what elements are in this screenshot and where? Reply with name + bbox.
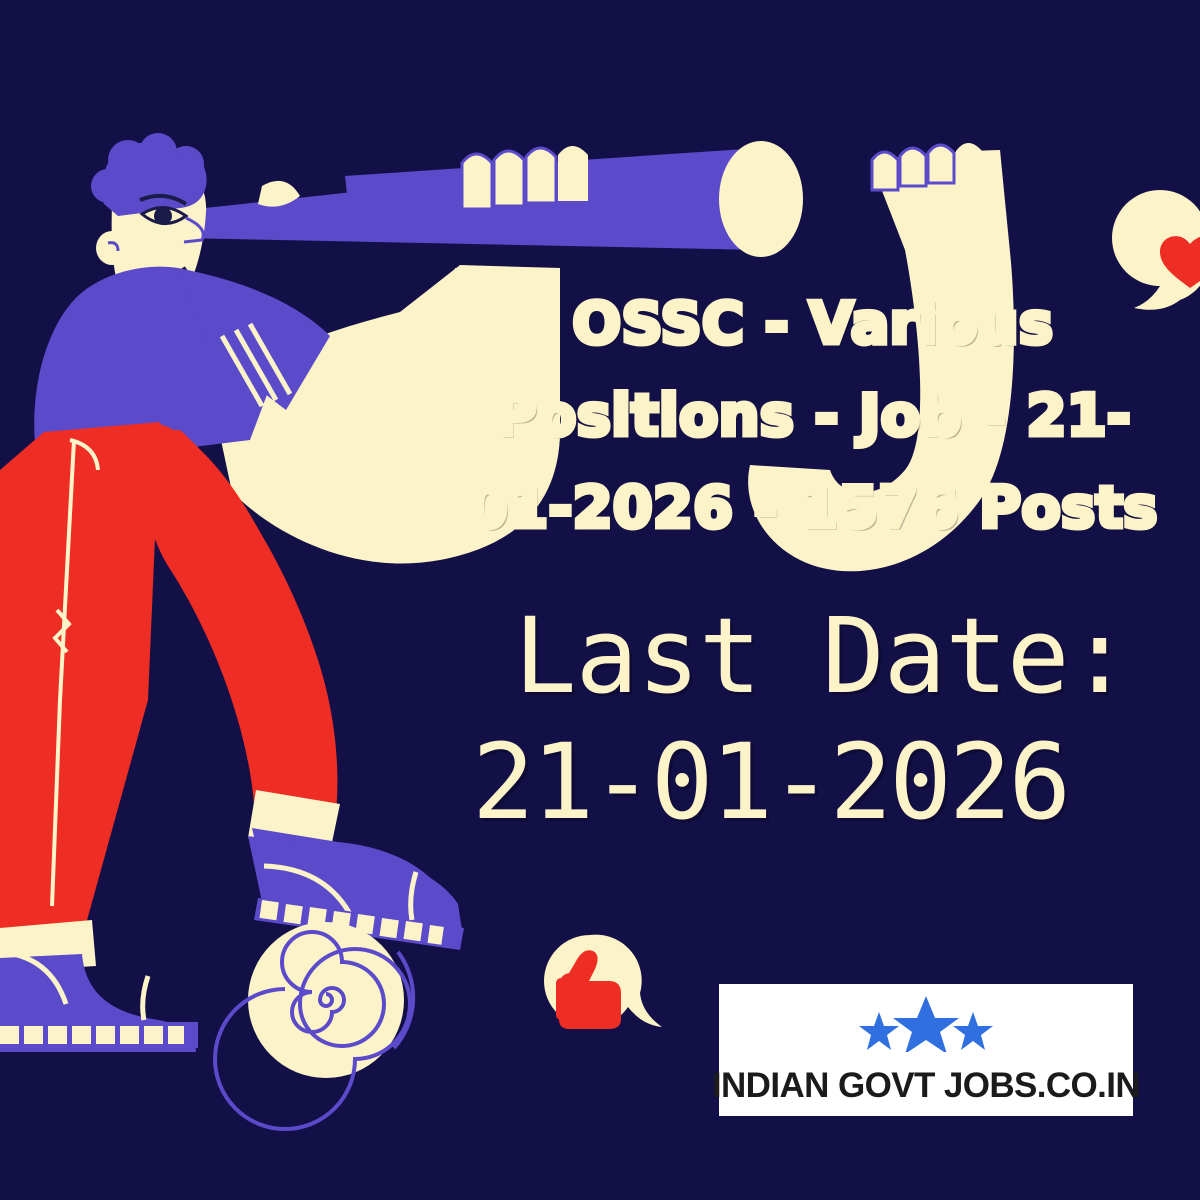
three-stars-icon — [719, 996, 1133, 1052]
last-date-block: Last Date: 21-01-2026 — [470, 596, 1200, 848]
headline-line-3: 01-2026 - 1576 Posts — [452, 462, 1174, 554]
headline-line-2: Positions - Job - 21- — [452, 370, 1174, 462]
thumbs-up-bubble — [544, 935, 662, 1029]
spiral-decoration — [215, 922, 413, 1129]
headline: OSSC - Various Positions - Job - 21- 01-… — [452, 278, 1174, 554]
site-logo-card: INDIAN GOVT JOBS.CO.IN — [719, 984, 1133, 1116]
last-date-label: Last Date: — [470, 596, 1200, 716]
site-wordmark: INDIAN GOVT JOBS.CO.IN — [709, 1066, 1143, 1106]
job-notification-poster: OSSC - Various Positions - Job - 21- 01-… — [0, 0, 1200, 1200]
headline-line-1: OSSC - Various — [452, 278, 1174, 370]
last-date-value: 21-01-2026 — [470, 716, 1200, 848]
character-boot-left — [0, 952, 198, 1052]
